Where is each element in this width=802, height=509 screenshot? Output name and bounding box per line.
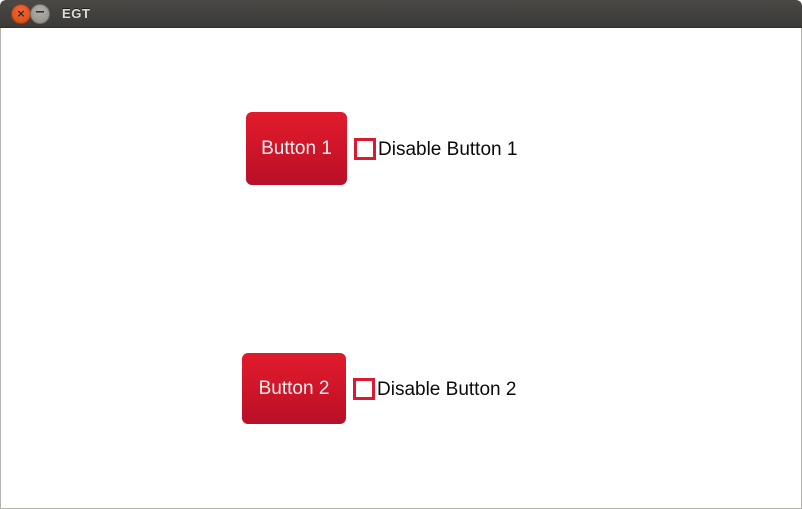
application-window: × − EGT Button 1 Disable Button 1 Button… xyxy=(0,0,802,509)
window-titlebar: × − EGT xyxy=(0,0,802,28)
minimize-icon: − xyxy=(35,6,46,19)
close-icon: × xyxy=(16,8,25,19)
disable-button-1-label[interactable]: Disable Button 1 xyxy=(378,140,517,159)
window-content-area: Button 1 Disable Button 1 Button 2 Disab… xyxy=(0,28,802,509)
minimize-button[interactable]: − xyxy=(30,4,50,24)
close-button[interactable]: × xyxy=(11,4,31,24)
button-2-label: Button 2 xyxy=(259,379,330,398)
button-1-label: Button 1 xyxy=(261,139,332,158)
window-title: EGT xyxy=(62,0,91,28)
disable-button-2-checkbox[interactable] xyxy=(353,378,375,400)
button-1[interactable]: Button 1 xyxy=(246,112,347,185)
disable-button-1-checkbox[interactable] xyxy=(354,138,376,160)
disable-button-2-label[interactable]: Disable Button 2 xyxy=(377,380,516,399)
button-2[interactable]: Button 2 xyxy=(242,353,346,424)
